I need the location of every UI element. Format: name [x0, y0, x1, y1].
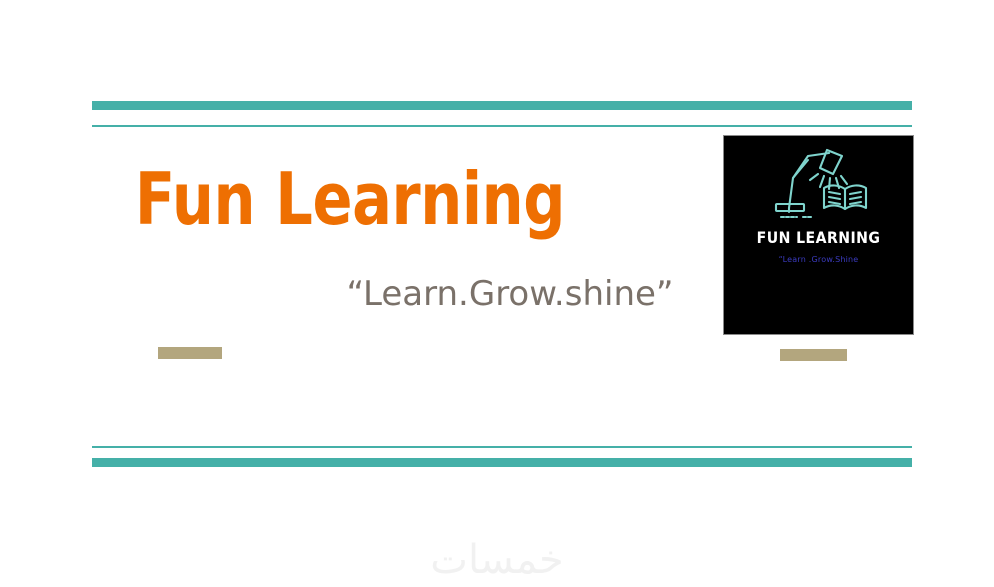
presentation-slide: Fun Learning “Learn.Grow.shine”: [0, 0, 994, 587]
bottom-thin-divider: [92, 446, 912, 448]
top-thick-divider: [92, 101, 912, 110]
logo-wordmark: FUN LEARNING: [735, 228, 901, 247]
accent-block-right: [780, 349, 847, 361]
logo-tagline: “Learn .Grow.Shine: [724, 255, 913, 264]
lamp-and-book-icon: [767, 144, 871, 228]
page-title: Fun Learning: [63, 156, 637, 242]
logo-card: FUN LEARNING “Learn .Grow.Shine: [724, 136, 913, 334]
watermark-text: خمسات: [0, 536, 994, 584]
accent-block-left: [158, 347, 222, 359]
top-thin-divider: [92, 125, 912, 127]
bottom-thick-divider: [92, 458, 912, 467]
